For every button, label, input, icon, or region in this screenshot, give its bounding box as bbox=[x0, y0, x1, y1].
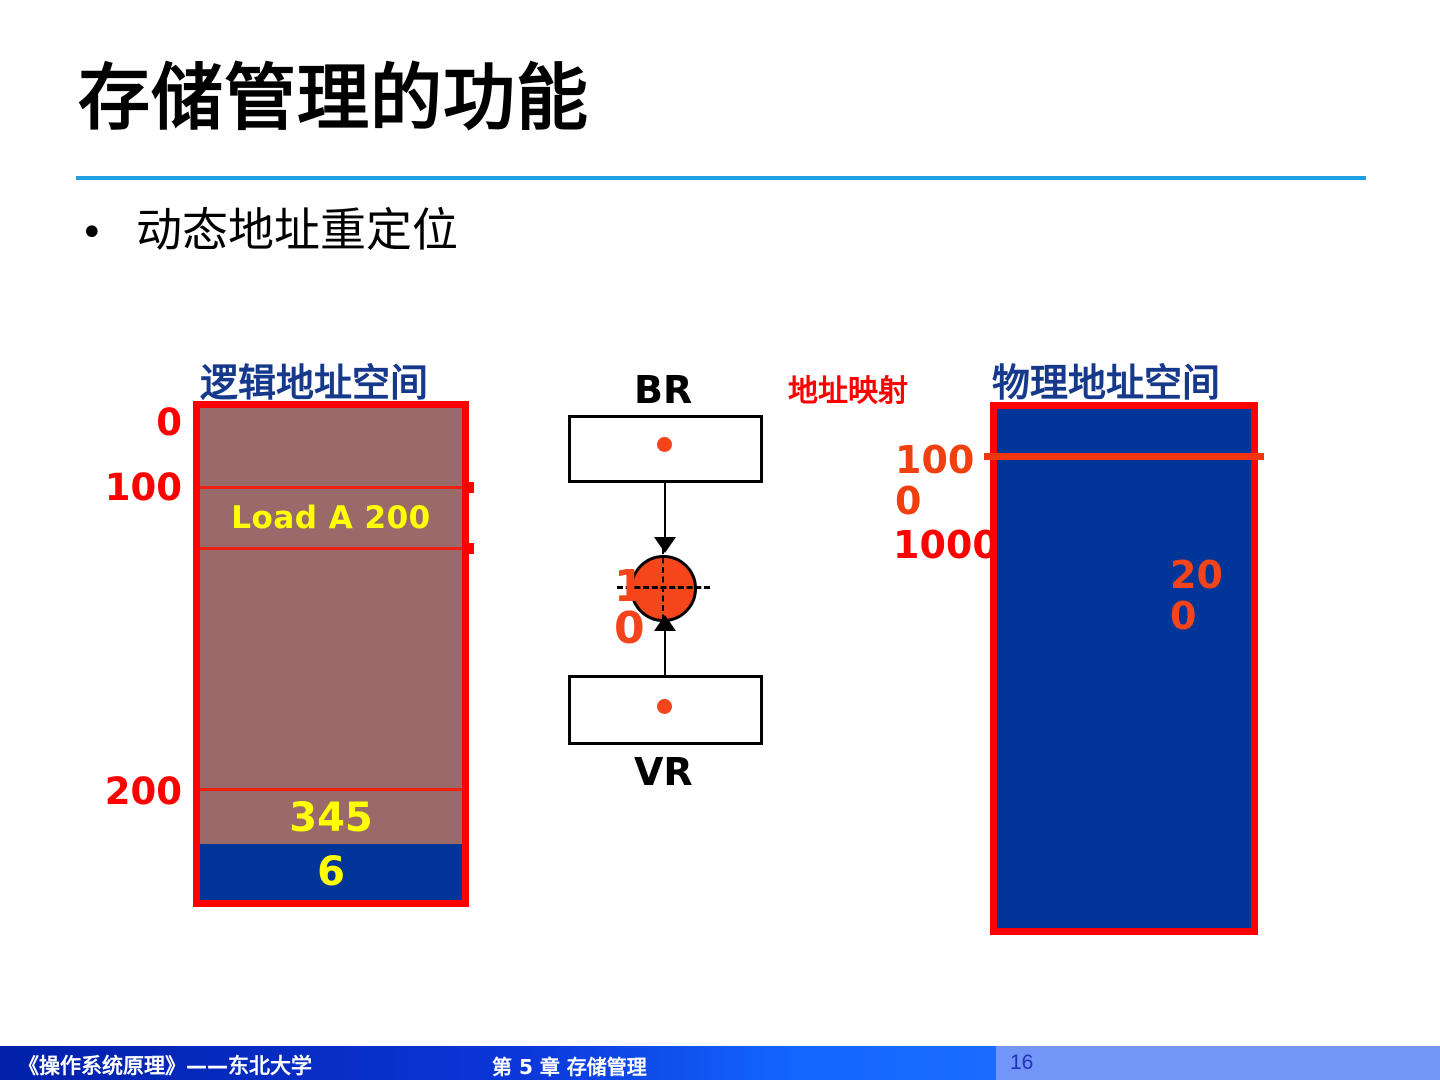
footer-page-number: 16 bbox=[1010, 1051, 1033, 1075]
logical-address-label-start: 0 bbox=[60, 401, 182, 444]
footer-chapter-text: 第 5 章 存储管理 bbox=[492, 1051, 647, 1080]
logical-box-tick-upper bbox=[463, 482, 474, 493]
physical-offset-label: 200 bbox=[1170, 555, 1240, 636]
br-to-adder-line bbox=[664, 483, 666, 541]
vr-to-adder-line bbox=[664, 628, 666, 675]
logical-address-space-box: Load A 200 345 6 bbox=[193, 401, 469, 907]
bullet-item-text: 动态地址重定位 bbox=[136, 205, 458, 256]
bullet-list: • 动态地址重定位 bbox=[80, 205, 458, 256]
vr-value-dot-icon bbox=[657, 699, 672, 714]
physical-space-heading: 物理地址空间 bbox=[992, 352, 1220, 407]
address-mapping-label: 地址映射 bbox=[788, 366, 908, 410]
slide-footer: 《操作系统原理》——东北大学 第 5 章 存储管理 16 bbox=[0, 1046, 1440, 1080]
data-value-lower: 6 bbox=[317, 849, 345, 895]
data-value-upper: 345 bbox=[289, 795, 373, 841]
logical-cell-free-middle bbox=[200, 550, 462, 788]
physical-base-divider bbox=[984, 453, 1264, 460]
logical-cell-instruction: Load A 200 bbox=[200, 486, 462, 550]
logical-cell-data-upper: 345 bbox=[200, 788, 462, 844]
arrow-down-icon bbox=[654, 537, 676, 553]
instruction-text: Load A 200 bbox=[231, 500, 430, 536]
logical-cell-free-top bbox=[200, 408, 462, 486]
physical-base-address-label: 1000 bbox=[895, 440, 995, 521]
logical-space-heading: 逻辑地址空间 bbox=[200, 352, 428, 407]
page-title: 存储管理的功能 bbox=[78, 62, 589, 134]
slide-canvas: 存储管理的功能 • 动态地址重定位 逻辑地址空间 0 100 200 Load … bbox=[0, 0, 1440, 1080]
physical-limit-address-label: 1000 bbox=[893, 523, 999, 567]
bullet-marker-icon: • bbox=[80, 213, 136, 253]
physical-address-space-box bbox=[990, 402, 1258, 935]
logical-cell-data-lower: 6 bbox=[200, 844, 462, 900]
br-value-dot-icon bbox=[657, 437, 672, 452]
logical-box-tick-lower bbox=[463, 543, 474, 554]
logical-address-label-data: 200 bbox=[60, 770, 182, 813]
footer-course-text: 《操作系统原理》——东北大学 bbox=[18, 1050, 312, 1080]
vr-register-label: VR bbox=[634, 750, 693, 794]
footer-band-right bbox=[996, 1046, 1440, 1080]
logical-address-label-instruction: 100 bbox=[60, 466, 182, 509]
adder-digit-lower: 0 bbox=[614, 607, 645, 651]
br-register-label: BR bbox=[634, 368, 692, 412]
title-divider bbox=[76, 176, 1366, 180]
